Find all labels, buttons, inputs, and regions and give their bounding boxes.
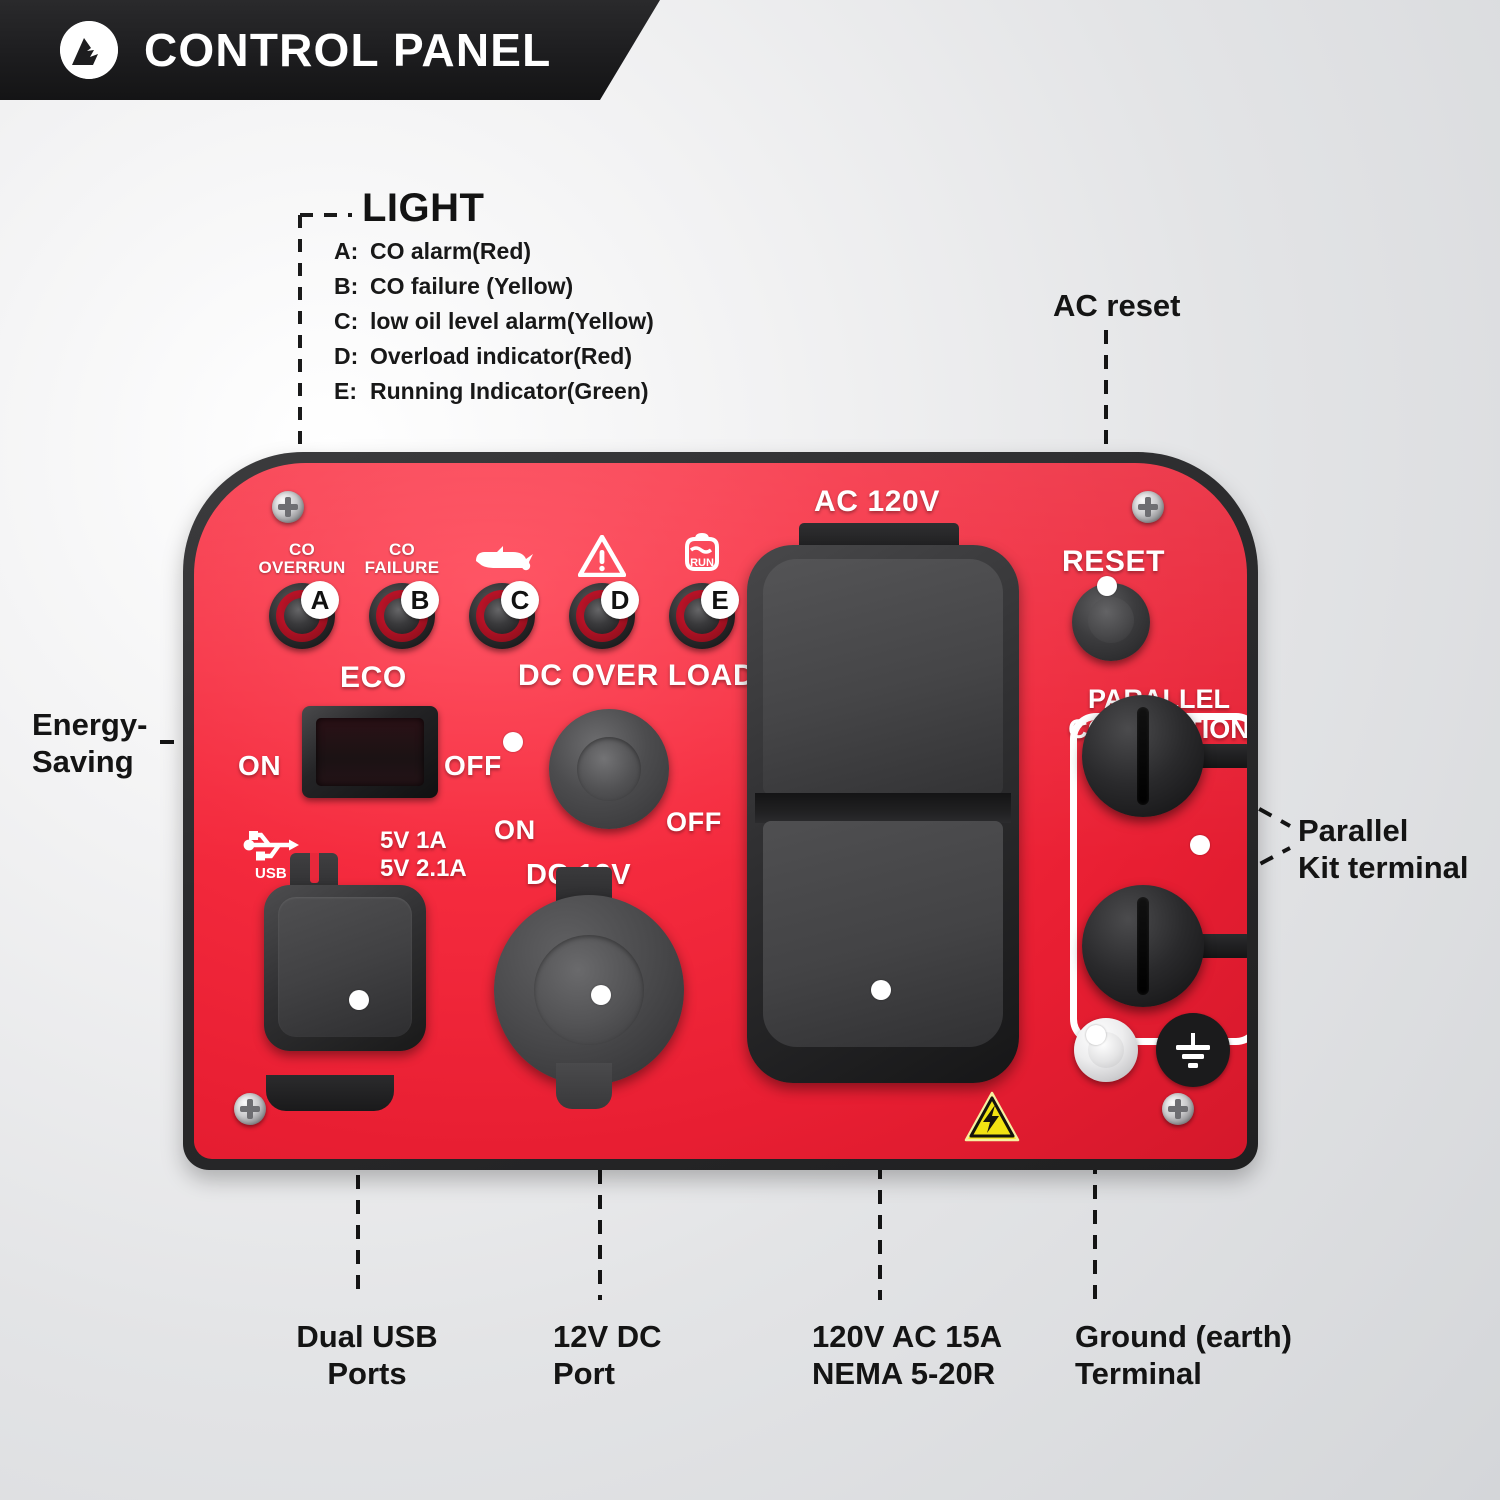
- usb-rating: 5V 1A 5V 2.1A: [380, 827, 467, 884]
- ac-outlet-foot: [266, 1075, 394, 1111]
- callout-ac-line2: NEMA 5-20R: [812, 1355, 1042, 1392]
- indicator-lamp-overload[interactable]: D: [556, 535, 648, 649]
- usb-port-cover[interactable]: [264, 885, 426, 1051]
- dc-port-cover-hinge: [556, 1063, 612, 1109]
- lamp-label-line2: OVERRUN: [258, 559, 345, 577]
- indicator-lamp-row: CO OVERRUN A CO FAILURE B: [256, 535, 756, 655]
- ac-outlet-bevel: [755, 793, 1011, 823]
- callout-parallel-line1: Parallel: [1298, 812, 1469, 849]
- eco-rocker-switch[interactable]: [302, 706, 438, 798]
- dc-overload-label: DC OVER LOAD: [518, 659, 755, 693]
- lamp-badge-e: E: [701, 581, 739, 619]
- lamp-label-line2: FAILURE: [365, 559, 440, 577]
- anchor-dot-ground: [1190, 835, 1210, 855]
- legend-item: C: low oil level alarm(Yellow): [334, 304, 730, 339]
- callout-parallel-kit-terminal: Parallel Kit terminal: [1298, 812, 1469, 886]
- dc-overload-off-label: OFF: [666, 807, 722, 838]
- callout-usb-line1: Dual USB: [272, 1318, 462, 1355]
- screw-icon: [234, 1093, 266, 1125]
- indicator-lamp-co-overrun[interactable]: CO OVERRUN A: [256, 535, 348, 649]
- ac-120v-label: AC 120V: [814, 485, 940, 519]
- legend-item: E: Running Indicator(Green): [334, 374, 730, 409]
- oil-can-icon: [456, 535, 548, 577]
- lamp-badge-d: D: [601, 581, 639, 619]
- lamp-badge-a: A: [301, 581, 339, 619]
- anchor-dot-usb: [349, 990, 369, 1010]
- callout-ac-line1: 120V AC 15A: [812, 1318, 1042, 1355]
- ac-outlet-lower-section: [763, 821, 1003, 1047]
- lamp-badge-c: C: [501, 581, 539, 619]
- parallel-kit-terminal-bottom[interactable]: [1082, 885, 1204, 1007]
- legend-item-text: Running Indicator(Green): [370, 374, 649, 409]
- legend-item-key: C:: [334, 304, 370, 339]
- header-banner: CONTROL PANEL: [0, 0, 660, 100]
- earth-ground-icon: [1156, 1013, 1230, 1087]
- callout-parallel-line2: Kit terminal: [1298, 849, 1469, 886]
- legend-item-text: low oil level alarm(Yellow): [370, 304, 654, 339]
- lamp-label: CO OVERRUN: [256, 535, 348, 577]
- callout-12v-dc-port: 12V DC Port: [553, 1318, 743, 1392]
- indicator-lamp-low-oil[interactable]: C: [456, 535, 548, 649]
- light-legend: LIGHT A: CO alarm(Red) B: CO failure (Ye…: [300, 188, 730, 409]
- legend-list: A: CO alarm(Red) B: CO failure (Yellow) …: [334, 234, 730, 409]
- legend-item: D: Overload indicator(Red): [334, 339, 730, 374]
- anchor-dot-dc: [591, 985, 611, 1005]
- dc-12v-port-cover[interactable]: [494, 895, 684, 1085]
- screw-icon: [272, 491, 304, 523]
- callout-dc-line2: Port: [553, 1355, 743, 1392]
- callout-energy-saving: Energy- Saving: [32, 706, 147, 780]
- reset-label: RESET: [1062, 545, 1165, 579]
- eco-on-label: ON: [238, 750, 281, 782]
- parallel-kit-terminal-top[interactable]: [1082, 695, 1204, 817]
- screw-icon: [1132, 491, 1164, 523]
- dc-overload-on-label: ON: [494, 815, 536, 846]
- anchor-dot-ground-bolt: [1086, 1025, 1106, 1045]
- callout-energy-saving-line2: Saving: [32, 743, 147, 780]
- dc-overload-button[interactable]: [549, 709, 669, 829]
- lamp-lens[interactable]: B: [369, 583, 435, 649]
- eco-label: ECO: [340, 661, 407, 695]
- indicator-lamp-running[interactable]: RUN E: [656, 535, 748, 649]
- ac-outlet-cover[interactable]: [747, 545, 1019, 1083]
- callout-ground-line2: Terminal: [1075, 1355, 1335, 1392]
- svg-text:RUN: RUN: [690, 557, 714, 569]
- callout-dual-usb-ports: Dual USB Ports: [272, 1318, 462, 1392]
- screw-icon: [1162, 1093, 1194, 1125]
- electrical-hazard-icon: [964, 1091, 1020, 1143]
- callout-120v-ac-outlet: 120V AC 15A NEMA 5-20R: [812, 1318, 1042, 1392]
- callout-usb-line2: Ports: [272, 1355, 462, 1392]
- lamp-badge-b: B: [401, 581, 439, 619]
- legend-item-key: E:: [334, 374, 370, 409]
- anchor-dot-eco: [503, 732, 523, 752]
- callout-energy-saving-line1: Energy-: [32, 706, 147, 743]
- legend-item-text: Overload indicator(Red): [370, 339, 632, 374]
- lamp-label-line1: CO: [389, 541, 415, 559]
- anchor-dot-reset: [1097, 576, 1117, 596]
- legend-item-key: D:: [334, 339, 370, 374]
- ground-terminal-bolt[interactable]: [1074, 1018, 1138, 1082]
- lamp-lens[interactable]: E: [669, 583, 735, 649]
- callout-ground-line1: Ground (earth): [1075, 1318, 1335, 1355]
- lamp-label-line1: CO: [289, 541, 315, 559]
- legend-item-key: A:: [334, 234, 370, 269]
- usb-cover-inner: [278, 897, 412, 1037]
- legend-item-text: CO failure (Yellow): [370, 269, 573, 304]
- usb-rating-line1: 5V 1A: [380, 827, 467, 855]
- usb-icon-label: USB: [255, 865, 287, 882]
- lamp-lens[interactable]: C: [469, 583, 535, 649]
- callout-dc-line1: 12V DC: [553, 1318, 743, 1355]
- callout-ac-reset: AC reset: [1053, 287, 1181, 324]
- control-panel: CO OVERRUN A CO FAILURE B: [183, 452, 1258, 1170]
- anchor-dot-ac-outlet: [871, 980, 891, 1000]
- lamp-label: CO FAILURE: [356, 535, 448, 577]
- warning-triangle-icon: [556, 535, 648, 577]
- legend-title: LIGHT: [362, 188, 730, 228]
- legend-item-key: B:: [334, 269, 370, 304]
- indicator-lamp-co-failure[interactable]: CO FAILURE B: [356, 535, 448, 649]
- engine-run-icon: RUN: [656, 535, 748, 577]
- lamp-lens[interactable]: A: [269, 583, 335, 649]
- usb-rating-line2: 5V 2.1A: [380, 855, 467, 883]
- mountain-logo-icon: [60, 21, 118, 79]
- legend-item-text: CO alarm(Red): [370, 234, 531, 269]
- legend-item: A: CO alarm(Red): [334, 234, 730, 269]
- legend-item: B: CO failure (Yellow): [334, 269, 730, 304]
- page-title: CONTROL PANEL: [144, 23, 551, 77]
- lamp-lens[interactable]: D: [569, 583, 635, 649]
- eco-off-label: OFF: [444, 750, 502, 782]
- ac-outlet-upper-section: [763, 559, 1003, 795]
- callout-ground-terminal: Ground (earth) Terminal: [1075, 1318, 1335, 1392]
- panel-face: CO OVERRUN A CO FAILURE B: [194, 463, 1247, 1159]
